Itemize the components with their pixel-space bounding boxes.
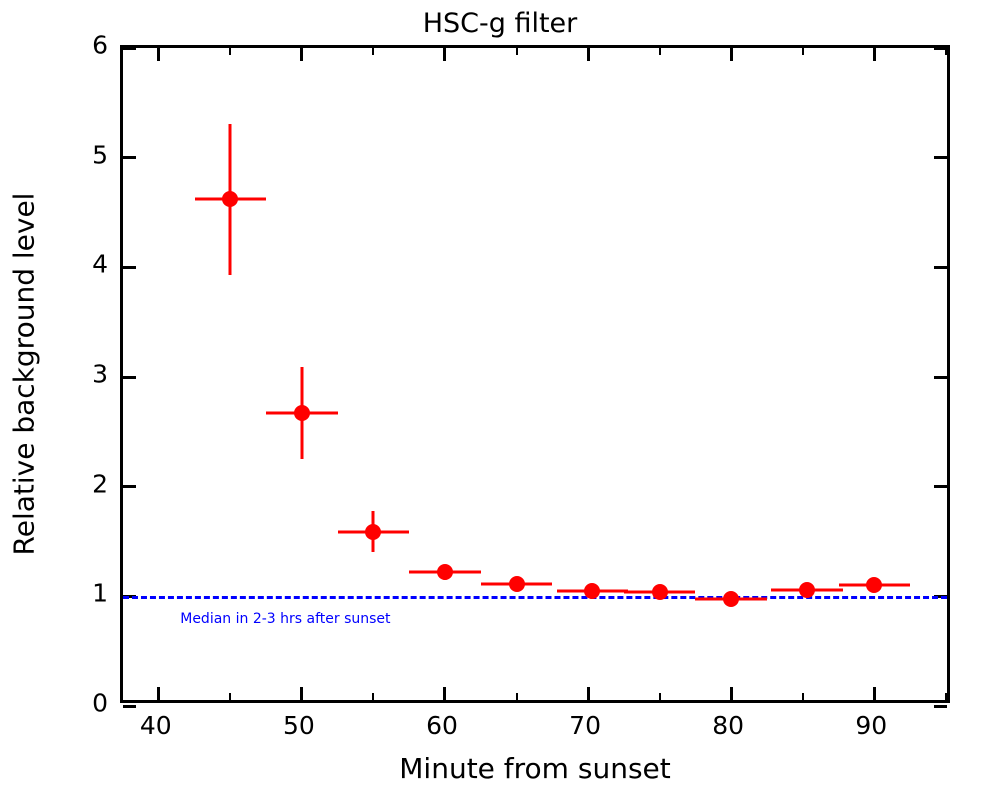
data-point-marker xyxy=(294,405,310,421)
y-tick-label: 6 xyxy=(72,31,108,60)
x-tick-minor-top xyxy=(229,48,231,55)
chart-figure: HSC-g filter Relative background level M… xyxy=(0,0,1000,800)
plot-inner: Median in 2-3 hrs after sunset xyxy=(123,48,947,700)
chart-title: HSC-g filter xyxy=(0,8,1000,39)
x-tick-major-top xyxy=(157,48,160,61)
data-point-marker xyxy=(365,524,381,540)
y-axis-label: Relative background level xyxy=(8,193,41,556)
data-point-marker xyxy=(437,564,453,580)
x-tick-label: 70 xyxy=(569,711,601,740)
data-point-marker xyxy=(799,582,815,598)
x-tick-label: 90 xyxy=(855,711,887,740)
y-tick-major xyxy=(123,156,136,159)
y-tick-major-right xyxy=(934,376,947,379)
x-tick-label: 40 xyxy=(140,711,172,740)
y-tick-label: 3 xyxy=(72,360,108,389)
x-tick-minor-top xyxy=(659,48,661,55)
x-tick-major-top xyxy=(443,48,446,61)
y-tick-label: 1 xyxy=(72,579,108,608)
y-tick-label: 4 xyxy=(72,250,108,279)
y-tick-major-right xyxy=(934,266,947,269)
y-tick-major xyxy=(123,705,136,708)
x-tick-label: 60 xyxy=(426,711,458,740)
y-tick-major-right xyxy=(934,47,947,50)
x-axis-label: Minute from sunset xyxy=(120,752,950,785)
median-reference-line xyxy=(123,596,947,599)
data-point-marker xyxy=(509,576,525,592)
y-tick-label: 0 xyxy=(72,689,108,718)
data-point-marker xyxy=(652,584,668,600)
x-tick-minor xyxy=(516,693,518,700)
data-point-marker xyxy=(866,577,882,593)
y-tick-major xyxy=(123,266,136,269)
y-tick-major-right xyxy=(934,485,947,488)
y-tick-major-right xyxy=(934,705,947,708)
y-tick-label: 5 xyxy=(72,140,108,169)
x-tick-label: 50 xyxy=(283,711,315,740)
y-tick-major xyxy=(123,376,136,379)
y-tick-label: 2 xyxy=(72,469,108,498)
x-tick-major-top xyxy=(730,48,733,61)
x-tick-minor xyxy=(945,693,947,700)
y-tick-major xyxy=(123,485,136,488)
y-axis-label-container: Relative background level xyxy=(0,45,48,703)
y-tick-major-right xyxy=(934,156,947,159)
x-tick-minor-top xyxy=(372,48,374,55)
x-tick-minor xyxy=(802,693,804,700)
x-tick-major xyxy=(443,687,446,700)
x-tick-major xyxy=(157,687,160,700)
x-tick-major xyxy=(300,687,303,700)
x-tick-major xyxy=(730,687,733,700)
x-tick-major-top xyxy=(587,48,590,61)
x-tick-major xyxy=(873,687,876,700)
x-tick-minor xyxy=(372,693,374,700)
data-point-marker xyxy=(723,591,739,607)
data-point-marker xyxy=(222,191,238,207)
x-tick-major xyxy=(587,687,590,700)
plot-frame: Median in 2-3 hrs after sunset xyxy=(120,45,950,703)
x-tick-minor xyxy=(229,693,231,700)
y-tick-major xyxy=(123,47,136,50)
data-point-marker xyxy=(584,583,600,599)
x-tick-major-top xyxy=(300,48,303,61)
x-tick-minor xyxy=(659,693,661,700)
x-tick-major-top xyxy=(873,48,876,61)
median-reference-label: Median in 2-3 hrs after sunset xyxy=(180,611,390,627)
x-tick-minor-top xyxy=(802,48,804,55)
x-tick-minor-top xyxy=(516,48,518,55)
x-tick-label: 80 xyxy=(712,711,744,740)
